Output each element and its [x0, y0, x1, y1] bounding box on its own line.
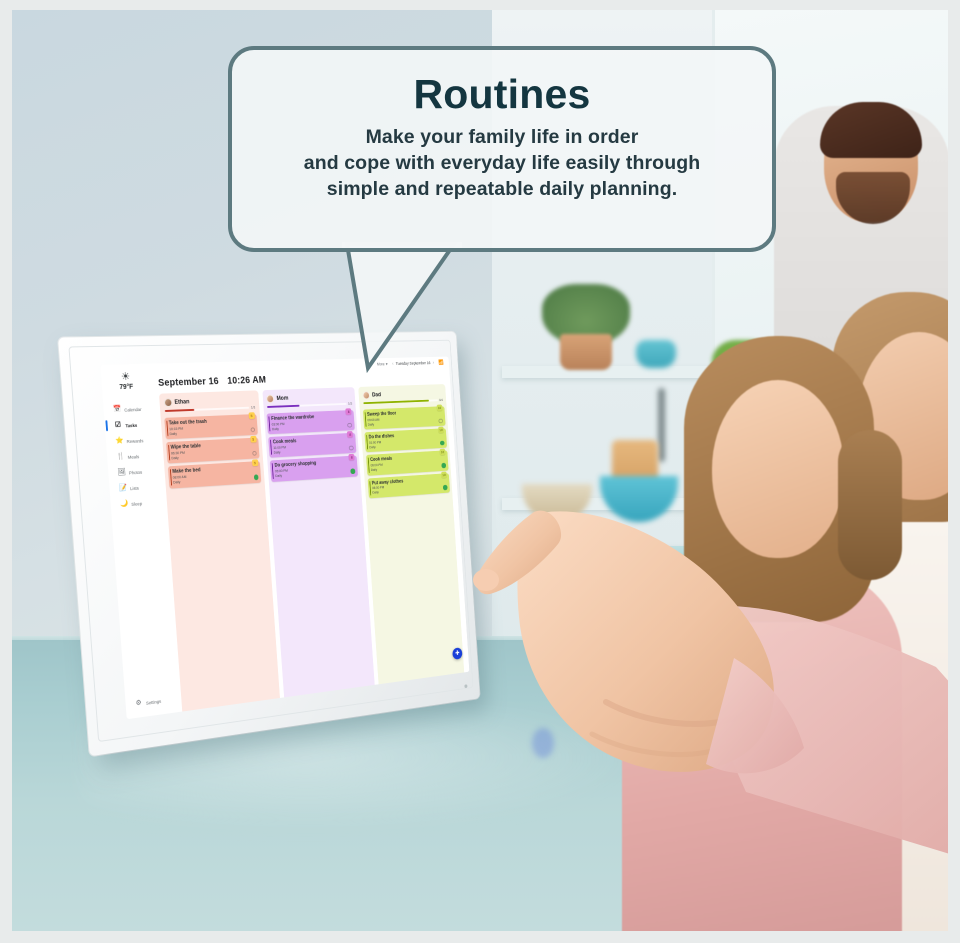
points-badge: 8 — [349, 454, 355, 461]
progress-label: 1/3 — [251, 406, 256, 410]
promo-subtitle: Make your family life in order and cope … — [258, 124, 746, 202]
task-card[interactable]: 10 Cook meals 06:00 PM Daily — [366, 451, 448, 476]
task-checkbox[interactable] — [250, 427, 255, 432]
task-checkbox[interactable] — [441, 463, 445, 468]
sidebar-item-sleep[interactable]: 🌙 Sleep — [110, 494, 159, 513]
task-column-ethan: Ethan 1/3 5 Take out the trash — [159, 390, 280, 711]
moon-icon: 🌙 — [120, 500, 128, 508]
avatar[interactable] — [163, 398, 172, 407]
sidebar-item-label: Calendar — [124, 407, 142, 413]
header-date: September 16 — [158, 376, 219, 388]
weather-temperature: 79°F — [102, 383, 151, 391]
person-girl-front-ponytail — [838, 430, 902, 580]
task-column-dad: Dad 3/4 10 Sweep the floor — [358, 384, 464, 684]
column-header: Ethan 1/3 — [162, 394, 256, 415]
page-title: Routines — [258, 70, 746, 118]
sidebar-item-label: Meals — [128, 454, 140, 460]
points-badge: 5 — [248, 412, 254, 419]
photo-frame: ☀ 79°F 📅 Calendar ☑ Tasks ⭐ — [0, 0, 960, 943]
task-checkbox[interactable] — [440, 441, 444, 446]
progress-label: 1/3 — [348, 402, 352, 406]
app-main: More ▾ ‹ Tuesday September 16 › 📶 S — [149, 357, 470, 713]
tablet-bezel: ☀ 79°F 📅 Calendar ☑ Tasks ⭐ — [58, 332, 480, 757]
points-badge: 8 — [347, 431, 353, 438]
points-badge: 8 — [346, 408, 352, 415]
sidebar-item-label: Settings — [146, 698, 161, 705]
sidebar-item-label: Lists — [130, 485, 139, 490]
tablet-screen: ☀ 79°F 📅 Calendar ☑ Tasks ⭐ — [100, 357, 469, 720]
points-badge: 10 — [438, 427, 444, 433]
gear-icon: ⚙ — [135, 699, 143, 708]
task-card[interactable]: 5 Wipe the table 06:30 PM Daily — [166, 438, 260, 464]
task-card[interactable]: 5 Make the bed 08:00 AM Daily — [167, 461, 261, 488]
task-checkbox[interactable] — [347, 423, 352, 428]
background-shelf-upper — [502, 366, 717, 378]
calendar-icon: 📅 — [113, 406, 121, 414]
tasks-icon: ☑ — [114, 422, 122, 430]
task-checkbox[interactable] — [254, 474, 259, 479]
points-badge: 10 — [437, 405, 443, 411]
progress-bar — [363, 399, 438, 404]
task-card[interactable]: 8 Finance the wardrobe 03:00 PM Daily — [267, 410, 355, 434]
member-name: Dad — [372, 392, 381, 398]
routines-app: ☀ 79°F 📅 Calendar ☑ Tasks ⭐ — [100, 357, 469, 720]
task-checkbox[interactable] — [252, 451, 257, 456]
points-badge: 10 — [441, 471, 447, 478]
task-checkbox[interactable] — [443, 485, 447, 490]
sidebar-item-label: Sleep — [131, 501, 142, 507]
promo-subtitle-line-1: Make your family life in order — [258, 124, 746, 150]
table-reflection-dot — [532, 728, 554, 758]
person-girl-front-body — [622, 568, 902, 931]
photos-icon: 🖼 — [117, 469, 125, 477]
task-checkbox[interactable] — [349, 446, 354, 451]
progress-bar — [267, 403, 347, 408]
task-board: Ethan 1/3 5 Take out the trash — [151, 384, 470, 713]
task-card[interactable]: 8 Do grocery shopping 05:00 PM Daily — [270, 456, 358, 482]
member-name: Mom — [276, 395, 288, 401]
lists-icon: 📝 — [119, 485, 127, 493]
points-badge: 5 — [250, 436, 256, 443]
weather-widget[interactable]: ☀ 79°F — [101, 371, 151, 392]
avatar[interactable] — [266, 395, 274, 404]
tablet-device: ☀ 79°F 📅 Calendar ☑ Tasks ⭐ — [58, 332, 480, 757]
task-checkbox[interactable] — [438, 418, 442, 423]
task-column-mom: Mom 1/3 8 Finance the wardrobe — [262, 387, 375, 697]
sun-icon: ☀ — [101, 371, 150, 384]
task-card[interactable]: 5 Take out the trash 10:15 PM Daily — [164, 414, 258, 439]
member-name: Ethan — [174, 399, 189, 405]
star-icon: ⭐ — [115, 437, 123, 445]
plus-icon: ✚ — [455, 648, 460, 660]
person-girl-front-face — [712, 380, 844, 558]
task-card[interactable]: 10 Do the dishes 01:00 PM Daily — [364, 428, 446, 452]
promo-subtitle-line-2: and cope with everyday life easily throu… — [258, 150, 746, 176]
header-time: 10:26 AM — [227, 375, 266, 387]
task-card[interactable]: 8 Cook meals 11:00 PM Daily — [268, 433, 356, 458]
promo-subtitle-line-3: simple and repeatable daily planning. — [258, 176, 746, 202]
background-plant-pot — [560, 334, 612, 370]
sidebar-item-label: Tasks — [125, 422, 137, 427]
progress-bar — [164, 407, 249, 413]
speech-bubble: Routines Make your family life in order … — [228, 46, 776, 252]
promo-scene: ☀ 79°F 📅 Calendar ☑ Tasks ⭐ — [12, 10, 948, 931]
meals-icon: 🍴 — [116, 453, 124, 461]
speech-bubble-tail — [342, 242, 462, 377]
progress-label: 3/4 — [439, 398, 443, 402]
column-header: Mom 1/3 — [265, 391, 353, 411]
column-header: Dad 3/4 — [362, 388, 444, 407]
task-checkbox[interactable] — [351, 468, 356, 473]
points-badge: 5 — [252, 460, 258, 467]
sidebar-item-label: Rewards — [126, 438, 143, 444]
sidebar-item-label: Photos — [129, 469, 143, 475]
avatar[interactable] — [362, 391, 370, 399]
sidebar-item-settings[interactable]: ⚙ Settings — [125, 691, 174, 713]
background-teal-jar — [636, 340, 676, 368]
points-badge: 10 — [440, 449, 446, 455]
task-card[interactable]: 10 Sweep the floor 09:00 AM Daily — [363, 406, 445, 430]
task-card[interactable]: 10 Put away clothes 08:00 PM Daily — [368, 473, 450, 498]
background-utensil — [658, 388, 665, 462]
